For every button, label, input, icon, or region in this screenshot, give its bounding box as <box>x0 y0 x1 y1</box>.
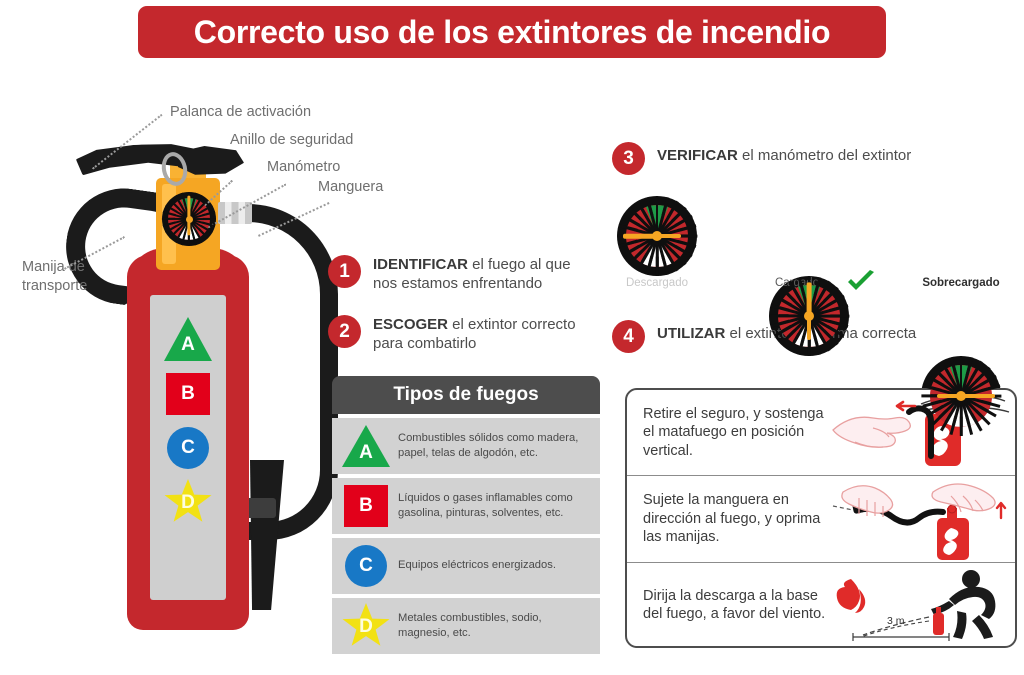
badge-a-letter: A <box>179 334 197 356</box>
callout-gauge: Manómetro <box>267 158 340 177</box>
head-gauge-icon <box>162 192 216 246</box>
step-4-number: 4 <box>612 320 645 353</box>
badge-d-letter: D <box>181 492 195 514</box>
table-row: B Líquidos o gases inflamables como gaso… <box>332 478 600 534</box>
fire-class-c-badge: C <box>334 545 398 587</box>
table-row: A Combustibles sólidos como madera, pape… <box>332 418 600 474</box>
fire-class-d-description: Metales combustibles, sodio, magnesio, e… <box>398 611 598 641</box>
check-icon <box>846 270 876 294</box>
usage-step-sweep-base: Dirija la descarga a la base del fuego, … <box>627 562 1015 648</box>
fire-types-header: Tipos de fuegos <box>332 376 600 414</box>
gauge-needle <box>961 394 995 399</box>
gauge-overcharged <box>921 356 1001 436</box>
usage-step-2-text: Sujete la manguera en dirección al fuego… <box>627 491 829 546</box>
callout-lever: Palanca de activación <box>170 103 311 122</box>
fire-class-d-badge: D <box>334 603 398 649</box>
fire-class-c-description: Equipos eléctricos energizados. <box>398 558 564 573</box>
usage-step-aim-hose: Sujete la manguera en dirección al fuego… <box>627 475 1015 561</box>
usage-step-3-text: Dirija la descarga a la base del fuego, … <box>627 587 829 624</box>
badge-class-a: A <box>164 317 212 361</box>
fire-class-d-letter: D <box>359 616 373 638</box>
callout-hose: Manguera <box>318 178 383 197</box>
step-2-keyword: ESCOGER <box>373 316 448 333</box>
fire-class-b-letter: B <box>359 495 373 517</box>
step-1: 1 IDENTIFICAR el fuego al que nos estamo… <box>328 255 578 294</box>
sweep-base-illustration <box>829 563 1015 648</box>
fire-class-a-description: Combustibles sólidos como madera, papel,… <box>398 431 598 461</box>
step-3-keyword: VERIFICAR <box>657 147 738 164</box>
aim-hose-illustration <box>829 476 1015 561</box>
cylinder-label-plate: A B C D <box>150 295 226 600</box>
infographic-canvas: Correcto uso de los extintores de incend… <box>0 0 1024 675</box>
gauge-discharged <box>617 196 697 276</box>
table-row: C Equipos eléctricos energizados. <box>332 538 600 594</box>
fire-types-table: Tipos de fuegos A Combustibles sólidos c… <box>332 376 600 654</box>
callout-safety-ring: Anillo de seguridad <box>230 131 353 150</box>
gauge-hub <box>186 216 193 223</box>
fire-class-a-letter: A <box>357 442 375 464</box>
fire-types-title: Tipos de fuegos <box>393 384 538 406</box>
spray-distance-label: 3 m <box>887 615 905 627</box>
page-title-banner: Correcto uso de los extintores de incend… <box>138 6 886 58</box>
callout-carry-handle: Manija de transporte <box>22 258 134 295</box>
badge-class-b: B <box>166 373 210 415</box>
step-3: 3 VERIFICAR el manómetro del extintor <box>612 142 911 175</box>
usage-instructions-panel: Retire el seguro, y sostenga el matafueg… <box>625 388 1017 648</box>
badge-class-c: C <box>167 427 209 469</box>
step-2-number: 2 <box>328 315 361 348</box>
page-title: Correcto uso de los extintores de incend… <box>194 14 830 51</box>
gauge-discharged-caption: Descargado <box>592 277 722 289</box>
step-1-number: 1 <box>328 255 361 288</box>
step-3-description: el manómetro del extintor <box>738 147 911 164</box>
step-2: 2 ESCOGER el extintor correcto para comb… <box>328 315 584 354</box>
badge-class-d: D <box>164 479 212 525</box>
step-1-keyword: IDENTIFICAR <box>373 256 468 273</box>
badge-b-letter: B <box>181 383 195 405</box>
fire-class-b-description: Líquidos o gases inflamables como gasoli… <box>398 491 598 521</box>
usage-step-3-illustration: 3 m <box>829 563 1015 648</box>
extinguisher-diagram: A B C D <box>10 130 320 650</box>
gauge-charged <box>769 276 849 356</box>
badge-c-letter: C <box>181 437 195 459</box>
fire-class-a-badge: A <box>334 425 398 467</box>
fire-class-b-badge: B <box>334 485 398 527</box>
gauge-overcharged-caption: Sobrecargado <box>901 277 1021 289</box>
step-3-number: 3 <box>612 142 645 175</box>
usage-step-1-text: Retire el seguro, y sostenga el matafueg… <box>627 405 829 460</box>
table-row: D Metales combustibles, sodio, magnesio,… <box>332 598 600 654</box>
step-4-keyword: UTILIZAR <box>657 325 725 342</box>
usage-step-2-illustration <box>829 476 1015 561</box>
fire-class-c-letter: C <box>359 555 373 577</box>
step-4: 4 UTILIZAR el extintor de forma correcta <box>612 320 916 353</box>
